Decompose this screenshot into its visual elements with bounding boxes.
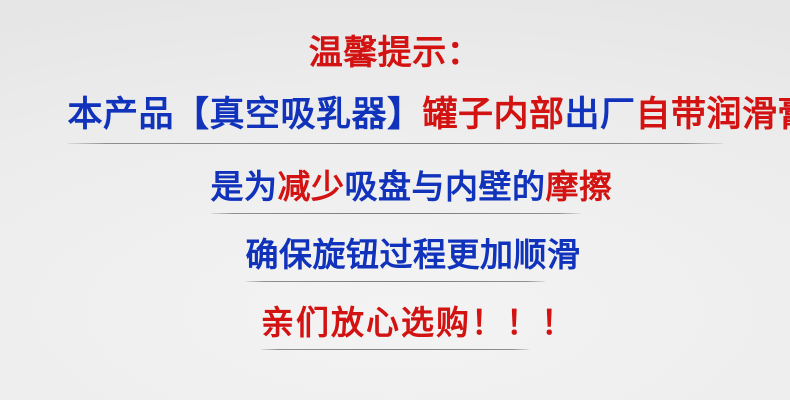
promo-line-buy-confidently: 亲们放心选购！！！ bbox=[0, 306, 790, 350]
text-segment-blue: 本产品【真空吸乳器】 bbox=[68, 95, 423, 135]
promo-line-reduce-friction: 是为减少吸盘与内壁的摩擦 bbox=[0, 170, 790, 214]
text-segment-blue: 出厂 bbox=[565, 95, 636, 135]
promo-line-product-text: 本产品【真空吸乳器】罐子内部出厂自带润滑膏 bbox=[68, 98, 723, 144]
text-segment-red: 摩擦 bbox=[546, 167, 613, 206]
promo-banner: 温馨提示： 本产品【真空吸乳器】罐子内部出厂自带润滑膏 是为减少吸盘与内壁的摩擦… bbox=[0, 0, 790, 400]
promo-line-smooth-knob-text: 确保旋钮过程更加顺滑 bbox=[246, 238, 545, 282]
promo-line-title: 温馨提示： bbox=[0, 36, 790, 70]
promo-line-buy-confidently-text: 亲们放心选购！！！ bbox=[261, 306, 529, 350]
promo-line-product: 本产品【真空吸乳器】罐子内部出厂自带润滑膏 bbox=[0, 98, 790, 144]
text-segment-red: 自带润滑膏 bbox=[636, 95, 790, 135]
promo-line-smooth-knob: 确保旋钮过程更加顺滑 bbox=[0, 238, 790, 282]
text-segment-blue: 是为 bbox=[211, 167, 278, 206]
text-segment-red: 罐子内部 bbox=[423, 95, 565, 135]
text-segment-red: 温馨提示： bbox=[309, 33, 482, 73]
text-segment-red: 亲们放心选购！！！ bbox=[261, 303, 576, 342]
text-segment-blue: 确保旋钮过程更加顺滑 bbox=[246, 235, 581, 274]
promo-line-reduce-friction-text: 是为减少吸盘与内壁的摩擦 bbox=[211, 170, 580, 214]
text-segment-red: 减少 bbox=[278, 167, 345, 206]
promo-line-title-text: 温馨提示： bbox=[309, 36, 482, 70]
text-segment-blue: 吸盘与内壁的 bbox=[345, 167, 546, 206]
